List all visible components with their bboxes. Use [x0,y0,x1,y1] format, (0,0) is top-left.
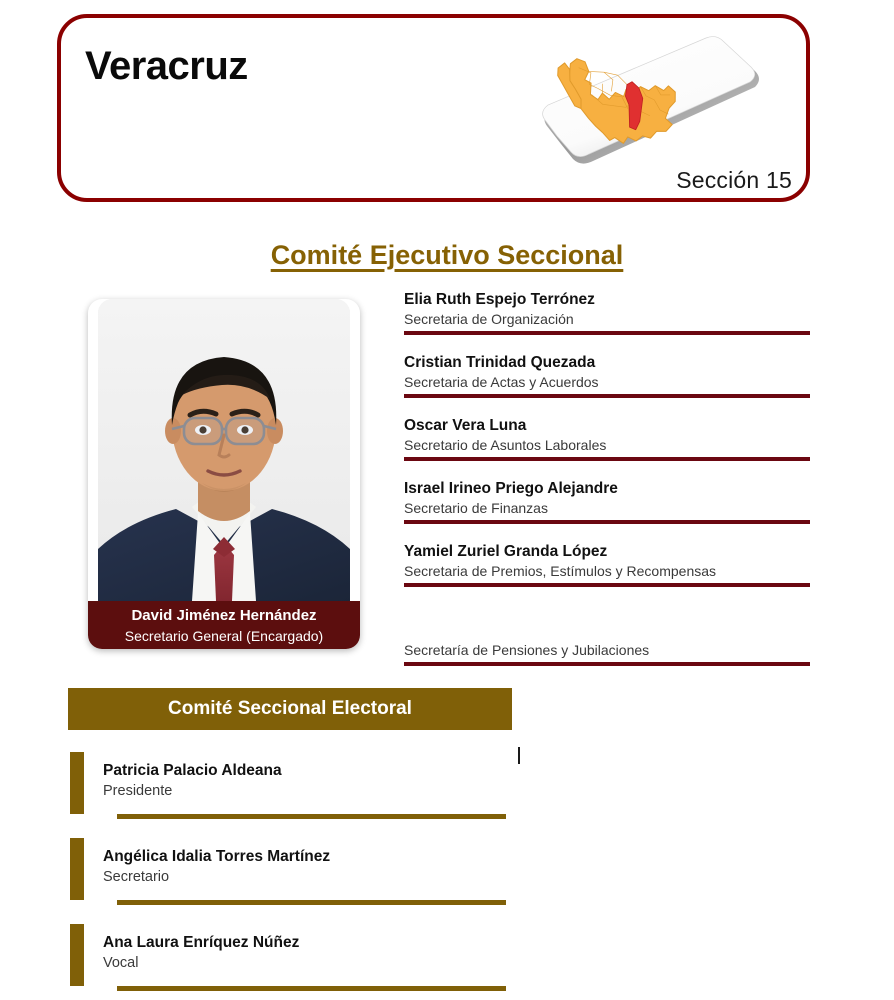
member-role: Secretaría de Pensiones y Jubilaciones [404,641,810,662]
member-name: Yamiel Zuriel Granda López [404,542,810,562]
member-name [404,605,810,641]
member-name: Angélica Idalia Torres Martínez [103,846,330,867]
member-divider [117,986,506,991]
accent-bar [70,838,84,900]
member-name: Ana Laura Enríquez Núñez [103,932,299,953]
secretary-general-caption: David Jiménez Hernández Secretario Gener… [88,601,360,649]
member-name: Israel Irineo Priego Alejandre [404,479,810,499]
electoral-member-list: Patricia Palacio Aldeana Presidente Angé… [68,752,512,1000]
executive-committee-title: Comité Ejecutivo Seccional [0,240,894,271]
mexico-map-plaque-icon [533,26,771,176]
state-header-panel: Veracruz [57,14,810,202]
member-divider [404,520,810,524]
member-name: Patricia Palacio Aldeana [103,760,282,781]
electoral-member-row: Ana Laura Enríquez Núñez Vocal [68,924,512,996]
executive-member-row: Israel Irineo Priego Alejandre Secretari… [404,479,810,524]
electoral-member-row: Patricia Palacio Aldeana Presidente [68,752,512,824]
member-divider [404,662,810,666]
member-portrait-photo [98,299,350,601]
member-role: Vocal [103,953,299,973]
secretary-general-card: David Jiménez Hernández Secretario Gener… [88,299,360,649]
section-directory-page: Veracruz [0,0,894,1000]
executive-member-row: Cristian Trinidad Quezada Secretaria de … [404,353,810,398]
secretary-general-role: Secretario General (Encargado) [88,626,360,646]
executive-member-list: Elia Ruth Espejo Terrónez Secretaria de … [404,290,810,684]
member-divider [117,814,506,819]
electoral-member-text: Angélica Idalia Torres Martínez Secretar… [103,846,330,887]
member-divider [404,331,810,335]
electoral-member-row: Angélica Idalia Torres Martínez Secretar… [68,838,512,910]
member-name: Cristian Trinidad Quezada [404,353,810,373]
executive-member-row: Elia Ruth Espejo Terrónez Secretaria de … [404,290,810,335]
executive-member-row: Oscar Vera Luna Secretario de Asuntos La… [404,416,810,461]
member-name: Elia Ruth Espejo Terrónez [404,290,810,310]
electoral-committee-header: Comité Seccional Electoral [68,688,512,730]
secretary-general-name: David Jiménez Hernández [88,606,360,626]
electoral-member-text: Patricia Palacio Aldeana Presidente [103,760,282,801]
member-role: Secretario de Asuntos Laborales [404,436,810,457]
accent-bar [70,752,84,814]
electoral-member-text: Ana Laura Enríquez Núñez Vocal [103,932,299,973]
member-divider [404,394,810,398]
member-role: Secretario de Finanzas [404,499,810,520]
member-role: Secretaria de Premios, Estímulos y Recom… [404,562,810,583]
member-name: Oscar Vera Luna [404,416,810,436]
member-role: Secretario [103,867,330,887]
accent-bar [70,924,84,986]
executive-member-row-vacant: Secretaría de Pensiones y Jubilaciones [404,605,810,666]
section-number-label: Sección 15 [676,167,792,194]
page-title: Veracruz [85,44,248,89]
member-role: Presidente [103,781,282,801]
member-divider [404,583,810,587]
executive-member-row: Yamiel Zuriel Granda López Secretaria de… [404,542,810,587]
member-divider [404,457,810,461]
member-divider [117,900,506,905]
member-role: Secretaria de Organización [404,310,810,331]
text-cursor-caret [518,747,520,764]
member-role: Secretaria de Actas y Acuerdos [404,373,810,394]
